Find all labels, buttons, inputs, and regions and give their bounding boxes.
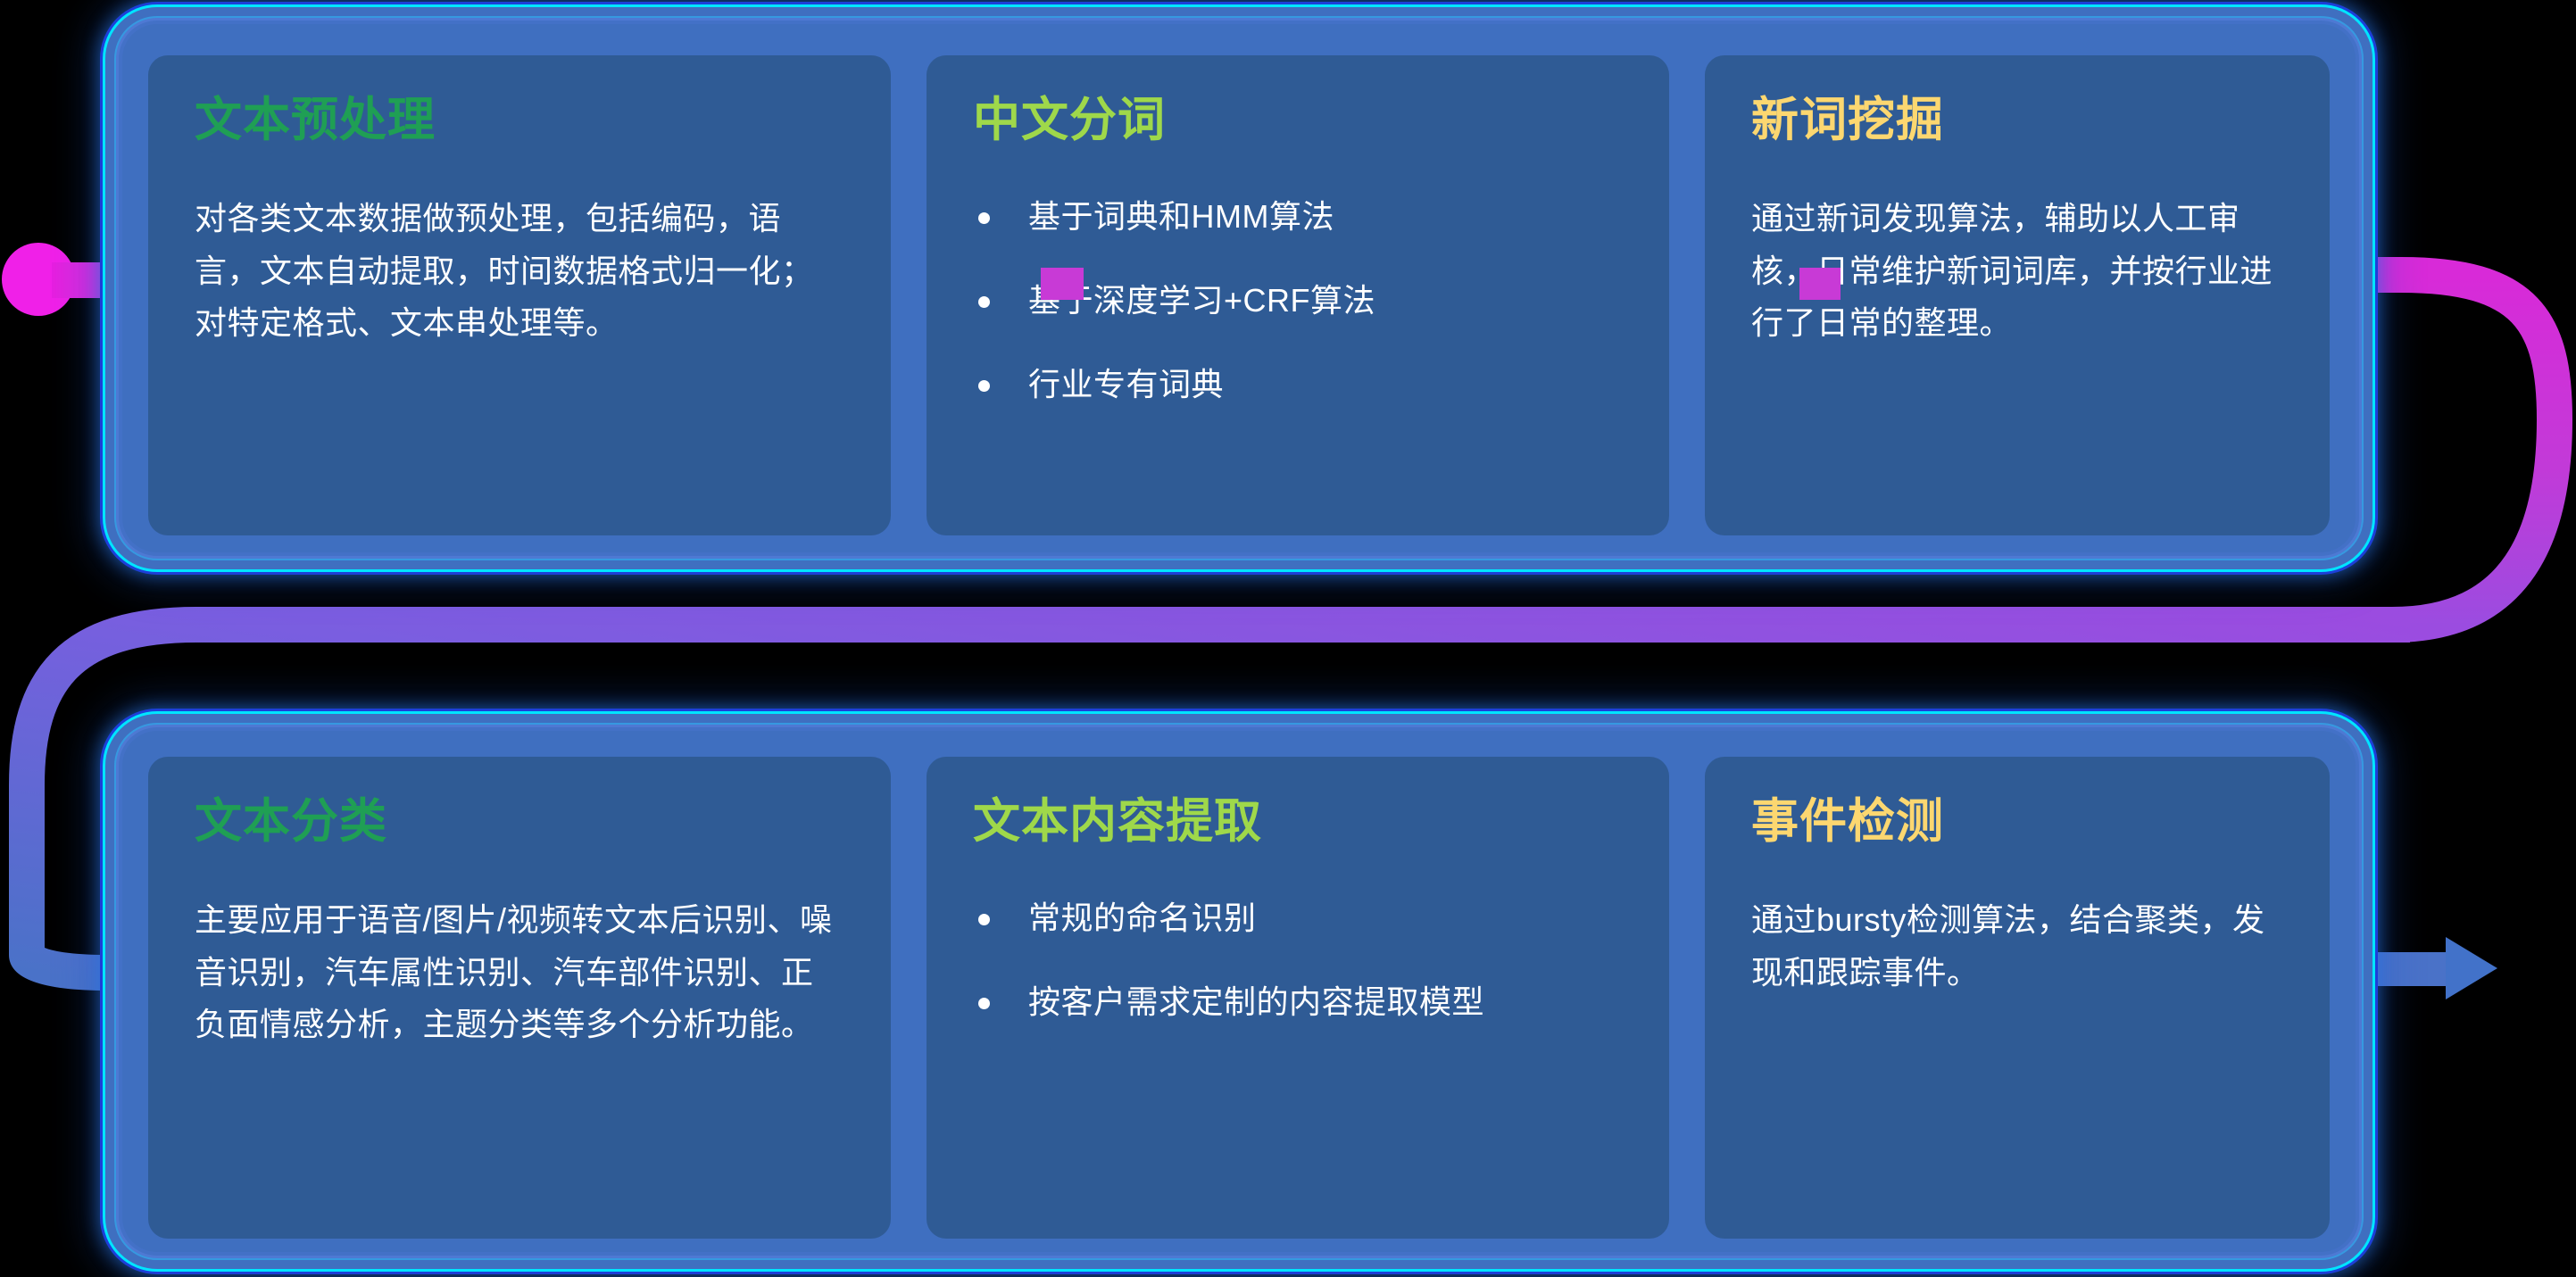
process-exit-arrow	[2446, 937, 2497, 999]
card-text-content-extraction[interactable]: 文本内容提取 常规的命名识别 按客户需求定制的内容提取模型	[927, 757, 1669, 1239]
card-body-bullets: 常规的命名识别 按客户需求定制的内容提取模型	[973, 894, 1623, 1026]
card-title: 文本内容提取	[973, 796, 1623, 848]
bullet-dot-icon	[978, 998, 990, 1009]
list-item: 按客户需求定制的内容提取模型	[973, 978, 1623, 1026]
connector-stub-card2-card3	[1799, 268, 1841, 300]
card-body-paragraph: 通过bursty检测算法，结合聚类，发现和跟踪事件。	[1751, 894, 2283, 999]
card-chinese-word-segmentation[interactable]: 中文分词 基于词典和HMM算法 基于深度学习+CRF算法 行业专有词典	[927, 55, 1669, 535]
connector-stub-card1-card2	[1041, 268, 1084, 300]
card-title: 中文分词	[973, 95, 1623, 146]
list-item: 常规的命名识别	[973, 894, 1623, 942]
card-body-paragraph: 主要应用于语音/图片/视频转文本后识别、噪音识别，汽车属性识别、汽车部件识别、正…	[195, 894, 844, 1050]
list-item: 基于词典和HMM算法	[973, 193, 1623, 241]
card-body-bullets: 基于词典和HMM算法 基于深度学习+CRF算法 行业专有词典	[973, 193, 1623, 409]
bottom-row-panel: 文本分类 主要应用于语音/图片/视频转文本后识别、噪音识别，汽车属性识别、汽车部…	[105, 714, 2372, 1269]
list-item-label: 基于词典和HMM算法	[1028, 198, 1334, 235]
list-item-label: 行业专有词典	[1028, 366, 1224, 402]
list-item-label: 常规的命名识别	[1028, 900, 1257, 936]
bullet-dot-icon	[978, 380, 990, 392]
card-title: 新词挖掘	[1751, 95, 2283, 146]
bullet-dot-icon	[978, 296, 990, 308]
bullet-dot-icon	[978, 914, 990, 925]
list-item: 行业专有词典	[973, 361, 1623, 409]
card-text-preprocessing[interactable]: 文本预处理 对各类文本数据做预处理，包括编码，语言，文本自动提取，时间数据格式归…	[148, 55, 891, 535]
list-item-label: 按客户需求定制的内容提取模型	[1028, 983, 1484, 1020]
card-event-detection[interactable]: 事件检测 通过bursty检测算法，结合聚类，发现和跟踪事件。	[1705, 757, 2330, 1239]
top-row-panel: 文本预处理 对各类文本数据做预处理，包括编码，语言，文本自动提取，时间数据格式归…	[105, 7, 2372, 569]
card-title: 文本预处理	[195, 95, 844, 146]
bullet-dot-icon	[978, 212, 990, 224]
card-text-classification[interactable]: 文本分类 主要应用于语音/图片/视频转文本后识别、噪音识别，汽车属性识别、汽车部…	[148, 757, 891, 1239]
card-new-word-discovery[interactable]: 新词挖掘 通过新词发现算法，辅助以人工审核，日常维护新词词库，并按行业进行了日常…	[1705, 55, 2330, 535]
diagram-canvas: 文本预处理 对各类文本数据做预处理，包括编码，语言，文本自动提取，时间数据格式归…	[0, 0, 2576, 1277]
card-body-paragraph: 对各类文本数据做预处理，包括编码，语言，文本自动提取，时间数据格式归一化；对特定…	[195, 193, 844, 349]
card-title: 事件检测	[1751, 796, 2283, 848]
card-title: 文本分类	[195, 796, 844, 848]
